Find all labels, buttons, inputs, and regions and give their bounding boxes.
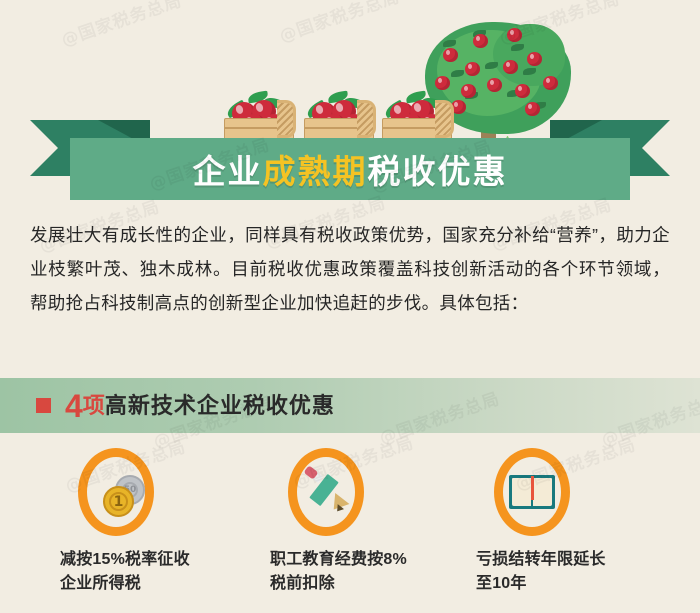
benefit-caption: 职工教育经费按8% 税前扣除 bbox=[270, 548, 485, 596]
benefit-cards: 50 1 减按15%税率征收 企业所得税 bbox=[0, 448, 700, 613]
benefit-caption: 亏损结转年限延长 至10年 bbox=[476, 548, 691, 596]
caption-line-1: 减按15%税率征收 bbox=[60, 548, 275, 572]
ribbon-band: 企业成熟期税收优惠 bbox=[70, 138, 630, 200]
pencil-icon bbox=[288, 448, 364, 536]
section-count: 4 bbox=[65, 390, 83, 422]
gold-coin: 1 bbox=[103, 486, 134, 517]
benefit-card[interactable]: 亏损结转年限延长 至10年 bbox=[466, 448, 691, 596]
title-part-2: 税收优惠 bbox=[368, 145, 508, 193]
caption-line-1: 职工教育经费按8% bbox=[270, 548, 485, 572]
intro-paragraph: 发展壮大有成长性的企业，同样具有税收政策优势，国家充分补给“营养”，助力企业枝繁… bbox=[30, 218, 670, 320]
section-title: 高新技术企业税收优惠 bbox=[105, 395, 335, 417]
section-unit: 项 bbox=[83, 395, 105, 417]
benefit-card[interactable]: 职工教育经费按8% 税前扣除 bbox=[260, 448, 485, 596]
benefit-caption: 减按15%税率征收 企业所得税 bbox=[60, 548, 275, 596]
caption-line-1: 亏损结转年限延长 bbox=[476, 548, 691, 572]
caption-line-2: 企业所得税 bbox=[60, 572, 275, 596]
coins-icon: 50 1 bbox=[78, 448, 154, 536]
caption-line-2: 至10年 bbox=[476, 572, 691, 596]
bullet-square-icon bbox=[36, 398, 51, 413]
title-highlight: 成熟期 bbox=[263, 145, 368, 193]
title-ribbon: 企业成熟期税收优惠 bbox=[0, 120, 700, 200]
title-part-1: 企业 bbox=[193, 145, 263, 193]
gold-coin-value: 1 bbox=[109, 492, 128, 511]
page-title: 企业成熟期税收优惠 bbox=[70, 138, 630, 200]
caption-line-2: 税前扣除 bbox=[270, 572, 485, 596]
benefit-card[interactable]: 50 1 减按15%税率征收 企业所得税 bbox=[50, 448, 275, 596]
infographic-page: 企业成熟期税收优惠 发展壮大有成长性的企业，同样具有税收政策优势，国家充分补给“… bbox=[0, 0, 700, 613]
section-header: 4 项 高新技术企业税收优惠 bbox=[0, 378, 700, 433]
open-book-icon bbox=[494, 448, 570, 536]
